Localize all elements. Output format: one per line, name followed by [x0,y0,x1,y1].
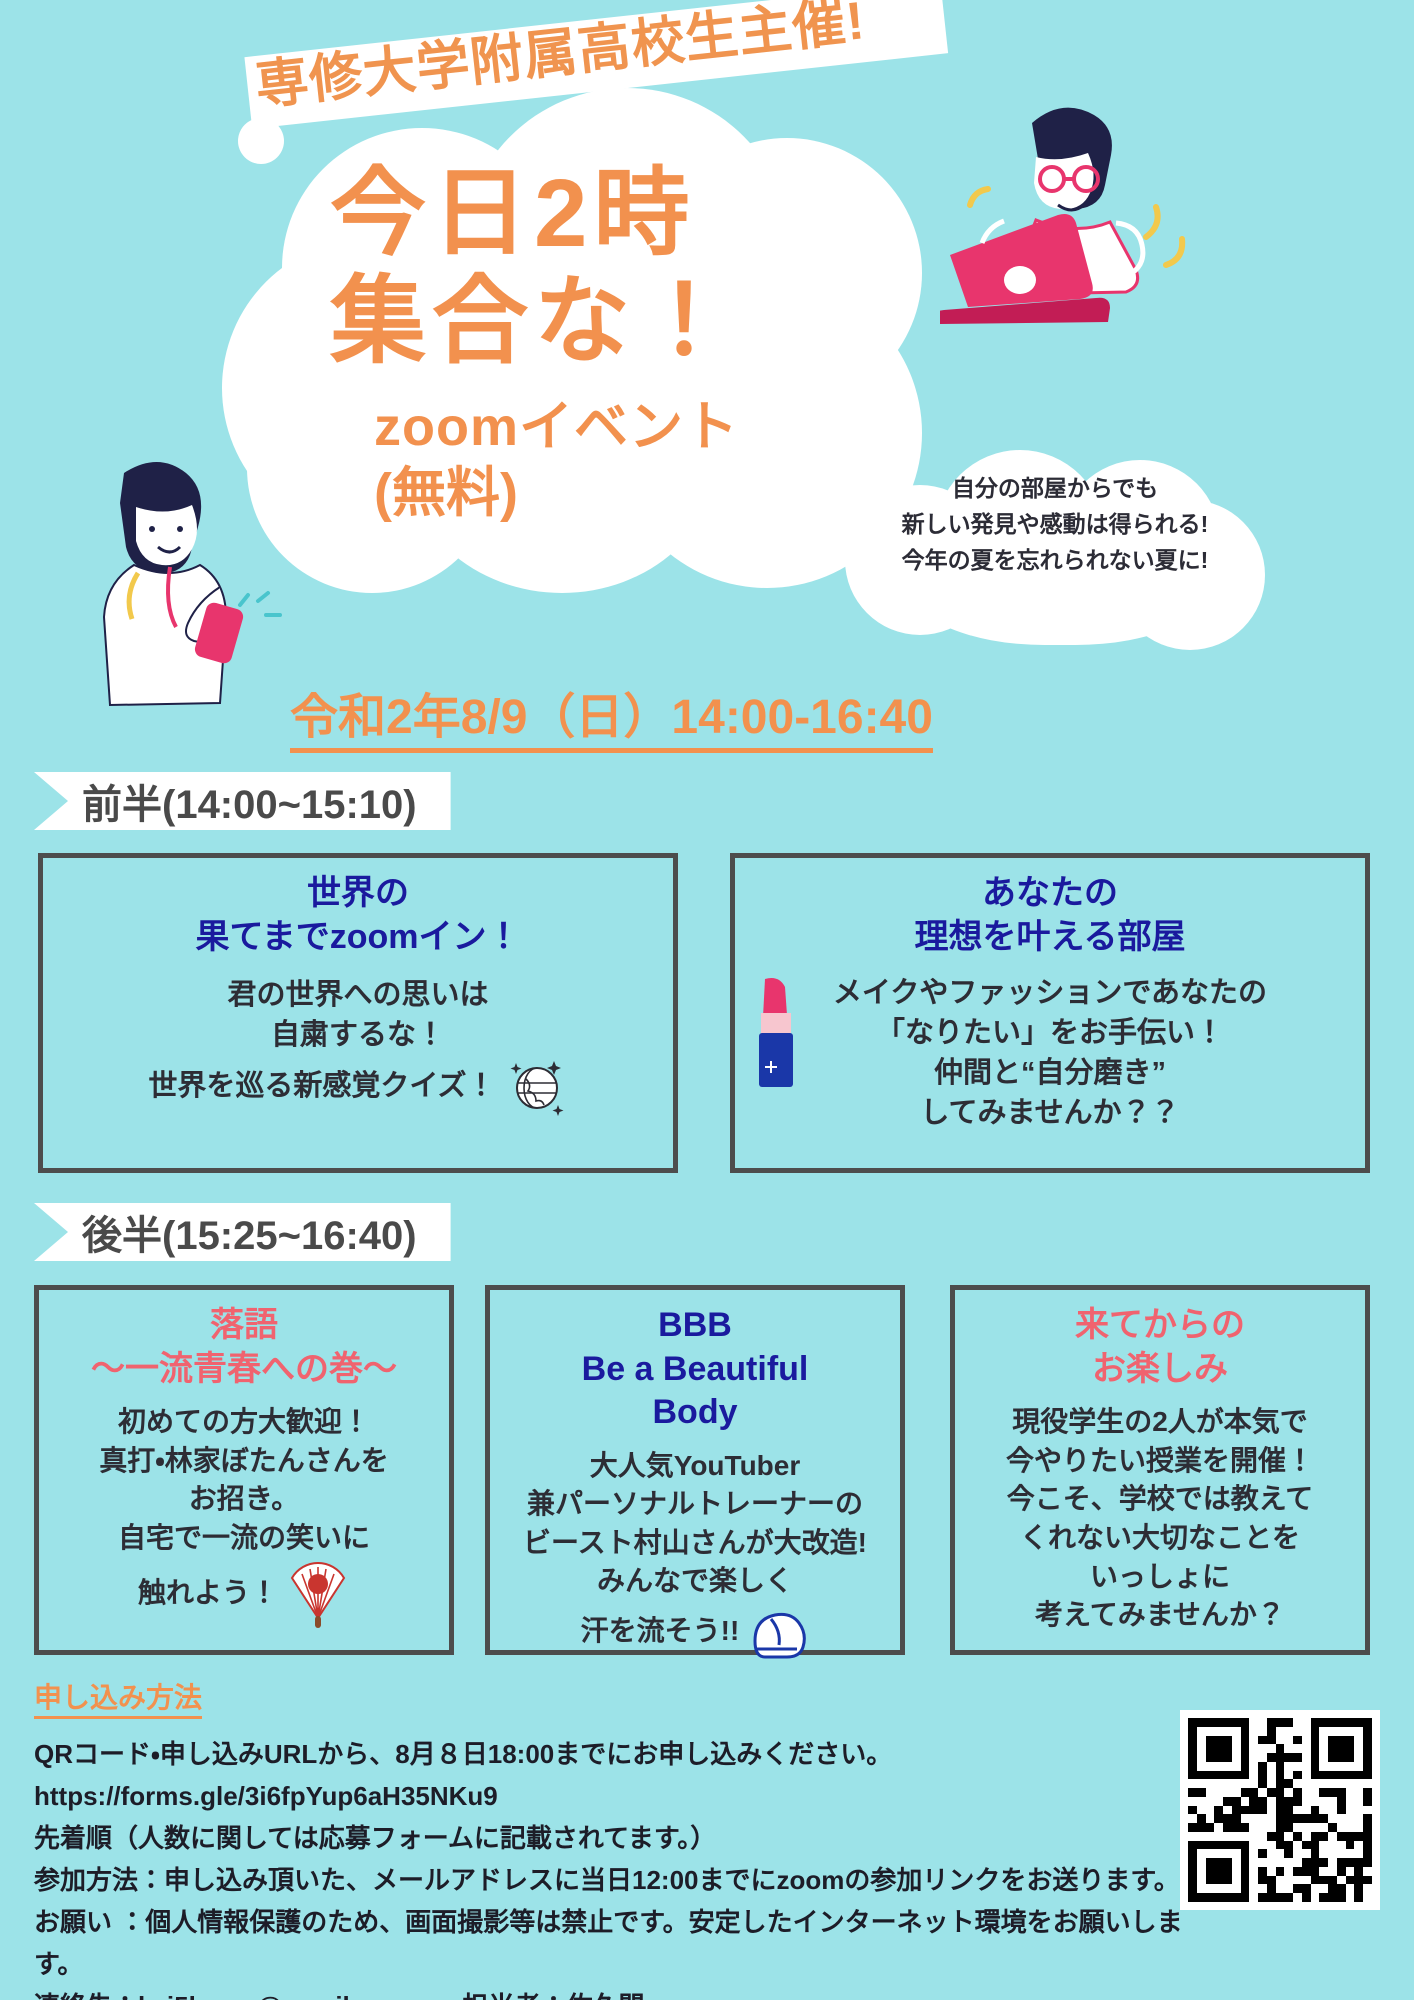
apply-heading: 申し込み方法 [34,1680,202,1719]
card-body: 現役学生の2人が本気で 今やりたい授業を開催！ 今こそ、学校では教えて くれない… [965,1403,1355,1635]
card-body-line-1: 君の世界への思いは [53,975,663,1015]
card-body-line-2: 兼パーソナルトレーナーの [500,1485,890,1524]
card-body-line-1: 現役学生の2人が本気で [965,1403,1355,1442]
card-body-line-4: みんなで楽しく [500,1562,890,1601]
side-note-line-2: 新しい発見や感動は得られる! [855,506,1255,542]
program-card-rakugo[interactable]: 落語 〜一流青春への巻〜 初めての方大歓迎！ 真打・林家ぼたんさんを お招き。 … [34,1285,454,1655]
event-date: 令和2年8/9（日）14:00-16:40 [290,690,933,753]
qr-code[interactable] [1180,1710,1380,1910]
side-note-line-1: 自分の部屋からでも [855,470,1255,506]
card-title-line-2: 果てまでzoomイン！ [53,916,663,960]
side-note: 自分の部屋からでも 新しい発見や感動は得られる! 今年の夏を忘れられない夏に! [855,470,1255,578]
card-body-line-2: 真打・林家ぼたんさんを [49,1442,439,1481]
card-title: 世界の 果てまでzoomイン！ [53,872,663,959]
card-title-line-2: Be a Beautiful [500,1348,890,1392]
card-body-line-3: ビースト村山さんが大改造! [500,1524,890,1563]
poster-root: 専修大学附属高校生主催! 今日2時 集合な！ zoomイベント (無料) 自分の… [0,0,1414,2000]
card-body-line-1: 大人気YouTuber [500,1447,890,1486]
lipstick-icon [751,977,805,1089]
card-title: あなたの 理想を叶える部屋 [745,872,1355,959]
card-body-line-1: 初めての方大歓迎！ [49,1403,439,1442]
section-ribbon-first-half: 前半(14:00~15:10) [34,772,451,830]
program-card-world[interactable]: 世界の 果てまでzoomイン！ 君の世界への思いは 自粛するな！ 世界を巡る新感… [38,853,678,1173]
card-body-line-4: くれない大切なことを [965,1519,1355,1558]
program-card-bbb[interactable]: BBB Be a Beautiful Body 大人気YouTuber 兼パーソ… [485,1285,905,1655]
card-body-line-2: 「なりたい」をお手伝い！ [745,1013,1355,1053]
qr-code-matrix [1188,1718,1372,1902]
program-card-fun[interactable]: 来てからの お楽しみ 現役学生の2人が本気で 今やりたい授業を開催！ 今こそ、学… [950,1285,1370,1655]
card-title: BBB Be a Beautiful Body [500,1304,890,1435]
card-body-line-4: してみませんか？？ [745,1093,1355,1133]
apply-line-5: お願い ：個人情報保護のため、画面撮影等は禁止です。安定したインターネット環境を… [34,1901,1184,1985]
card-body-line-2: 自粛するな！ [53,1015,663,1055]
card-title-line-1: BBB [500,1304,890,1348]
card-body: 大人気YouTuber 兼パーソナルトレーナーの ビースト村山さんが大改造! み… [500,1447,890,1662]
card-title-line-1: 落語 [49,1304,439,1348]
section-ribbon-second-half: 後半(15:25~16:40) [34,1203,451,1261]
card-body-line-3: 世界を巡る新感覚クイズ！ [148,1066,495,1106]
card-title-line-1: 来てからの [965,1304,1355,1348]
card-body-line-3: 仲間と“自分磨き” [745,1053,1355,1093]
apply-line-3: 先着順（人数に関しては応募フォームに記載されてます。） [34,1817,1184,1859]
biceps-icon [747,1601,809,1661]
card-title: 落語 〜一流青春への巻〜 [49,1304,439,1391]
apply-details: QRコード・申し込みURLから、8月８日18:00までにお申し込みください。 h… [34,1733,1184,2000]
card-body: 君の世界への思いは 自粛するな！ 世界を巡る新感覚クイズ！ [53,975,663,1117]
card-title: 来てからの お楽しみ [965,1304,1355,1391]
title-line-1: 今日2時 [330,160,870,268]
card-body-line-2: 今やりたい授業を開催！ [965,1442,1355,1481]
card-body-line-4: 自宅で一流の笑いに [49,1519,439,1558]
title-line-2: 集合な！ [330,268,870,376]
card-body-line-3: お招き。 [49,1480,439,1519]
apply-url[interactable]: https://forms.gle/3i6fpYup6aH35NKu9 [34,1775,1184,1817]
card-body-line-3: 今こそ、学校では教えて [965,1480,1355,1519]
card-body-line-6: 考えてみませんか？ [965,1596,1355,1635]
side-note-line-3: 今年の夏を忘れられない夏に! [855,542,1255,578]
globe-icon [506,1055,568,1117]
card-body: 初めての方大歓迎！ 真打・林家ぼたんさんを お招き。 自宅で一流の笑いに 触れよ… [49,1403,439,1630]
card-title-line-2: 〜一流青春への巻〜 [49,1348,439,1392]
card-title-line-2: お楽しみ [965,1348,1355,1392]
card-title-line-1: 世界の [53,872,663,916]
card-body-line-1: メイクやファッションであなたの [745,973,1355,1013]
subtitle-free: (無料) [374,448,518,527]
program-card-room[interactable]: あなたの 理想を叶える部屋 メイクやファッションであなたの 「なりたい」をお手伝… [730,853,1370,1173]
card-title-line-3: Body [500,1391,890,1435]
card-body-line-5: 触れよう！ [138,1574,278,1613]
laptop-person-illustration [940,95,1240,365]
apply-line-1: QRコード・申し込みURLから、8月８日18:00までにお申し込みください。 [34,1733,1184,1775]
phone-person-illustration [80,455,300,710]
card-title-line-1: あなたの [745,872,1355,916]
card-body: メイクやファッションであなたの 「なりたい」をお手伝い！ 仲間と“自分磨き” し… [745,973,1355,1133]
card-body-line-5: いっしょに [965,1558,1355,1597]
fan-icon [286,1558,350,1630]
card-body-line-5: 汗を流そう!! [581,1612,740,1651]
apply-contact: 連絡先：kei5kuma@gmail.com 担当者：佐久間 [34,1985,1184,2000]
page-title: 今日2時 集合な！ [330,160,870,376]
apply-line-4: 参加方法：申し込み頂いた、メールアドレスに当日12:00までにzoomの参加リン… [34,1859,1184,1901]
card-title-line-2: 理想を叶える部屋 [745,916,1355,960]
